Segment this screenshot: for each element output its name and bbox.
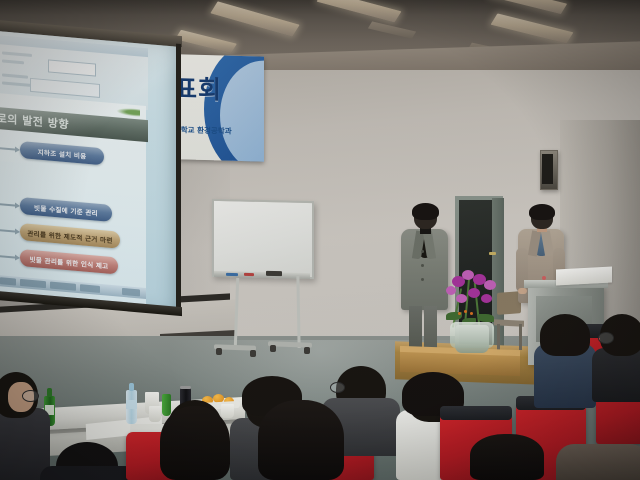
caster-wheel — [250, 350, 256, 357]
audience-hair — [470, 434, 544, 480]
eyeglasses — [598, 332, 614, 344]
orchid-bloom — [456, 294, 467, 303]
coat-button — [421, 250, 424, 253]
audience-body — [556, 444, 640, 480]
photograph-lecture-hall: 발표회 표회 대구대학교 환경공학과 으로의 발전 방향 — [0, 0, 640, 480]
can-top — [180, 386, 191, 389]
coat-button — [421, 264, 424, 267]
seat-backrest — [440, 406, 512, 420]
caster-wheel — [270, 345, 276, 352]
leaf — [478, 314, 494, 322]
bottle-neck — [47, 388, 52, 397]
hair — [412, 203, 439, 220]
speaker-grill — [542, 154, 553, 184]
door-handle — [489, 252, 496, 255]
orchid-bloom — [468, 288, 480, 298]
eyeglasses — [22, 390, 39, 402]
whiteboard-eraser — [266, 271, 282, 276]
green-bottle-small — [162, 394, 171, 416]
berry — [464, 310, 467, 313]
bottle-label — [126, 400, 137, 409]
audience-hair — [540, 314, 590, 356]
whiteboard — [212, 199, 314, 279]
screen-surface: 으로의 발전 방향 지하조 설치 비용 빗물 수질에 기준 관리 관리를 위한 … — [0, 31, 178, 309]
orchid-bloom — [484, 280, 496, 290]
projection-screen: 으로의 발전 방향 지하조 설치 비용 빗물 수질에 기준 관리 관리를 위한 … — [0, 20, 182, 326]
audience-body — [40, 466, 136, 480]
flow-item: 빗물 관리를 위한 인식 제고 — [20, 249, 118, 275]
bottle-cap — [129, 383, 134, 391]
whiteboard-marker — [226, 273, 238, 276]
lectern-papers — [556, 267, 612, 286]
orchid-bloom — [446, 286, 456, 295]
hand — [518, 288, 527, 294]
audience-hair — [258, 400, 344, 480]
eyeglasses — [330, 382, 345, 393]
caster-wheel — [304, 347, 310, 354]
chair-leg — [519, 324, 522, 350]
orchid-bloom — [481, 294, 492, 303]
audience-hair — [160, 406, 230, 480]
audience-body — [592, 348, 640, 402]
whiteboard-marker — [244, 273, 254, 276]
chair-leg — [497, 324, 500, 352]
flow-item: 관리를 위한 제도적 근거 마련 — [20, 223, 120, 249]
coat-button — [421, 278, 424, 281]
caster-wheel — [216, 348, 222, 355]
flow-item: 빗물 수질에 기준 관리 — [20, 197, 112, 222]
berry — [470, 312, 473, 315]
hair — [529, 204, 555, 220]
berry — [458, 312, 461, 315]
screen-side-edge — [176, 44, 181, 312]
paper-cup — [149, 406, 161, 422]
flower-pot — [455, 325, 489, 353]
paper-cup — [221, 404, 234, 418]
screen-glare — [0, 31, 178, 178]
microphone-indicator — [542, 276, 546, 280]
